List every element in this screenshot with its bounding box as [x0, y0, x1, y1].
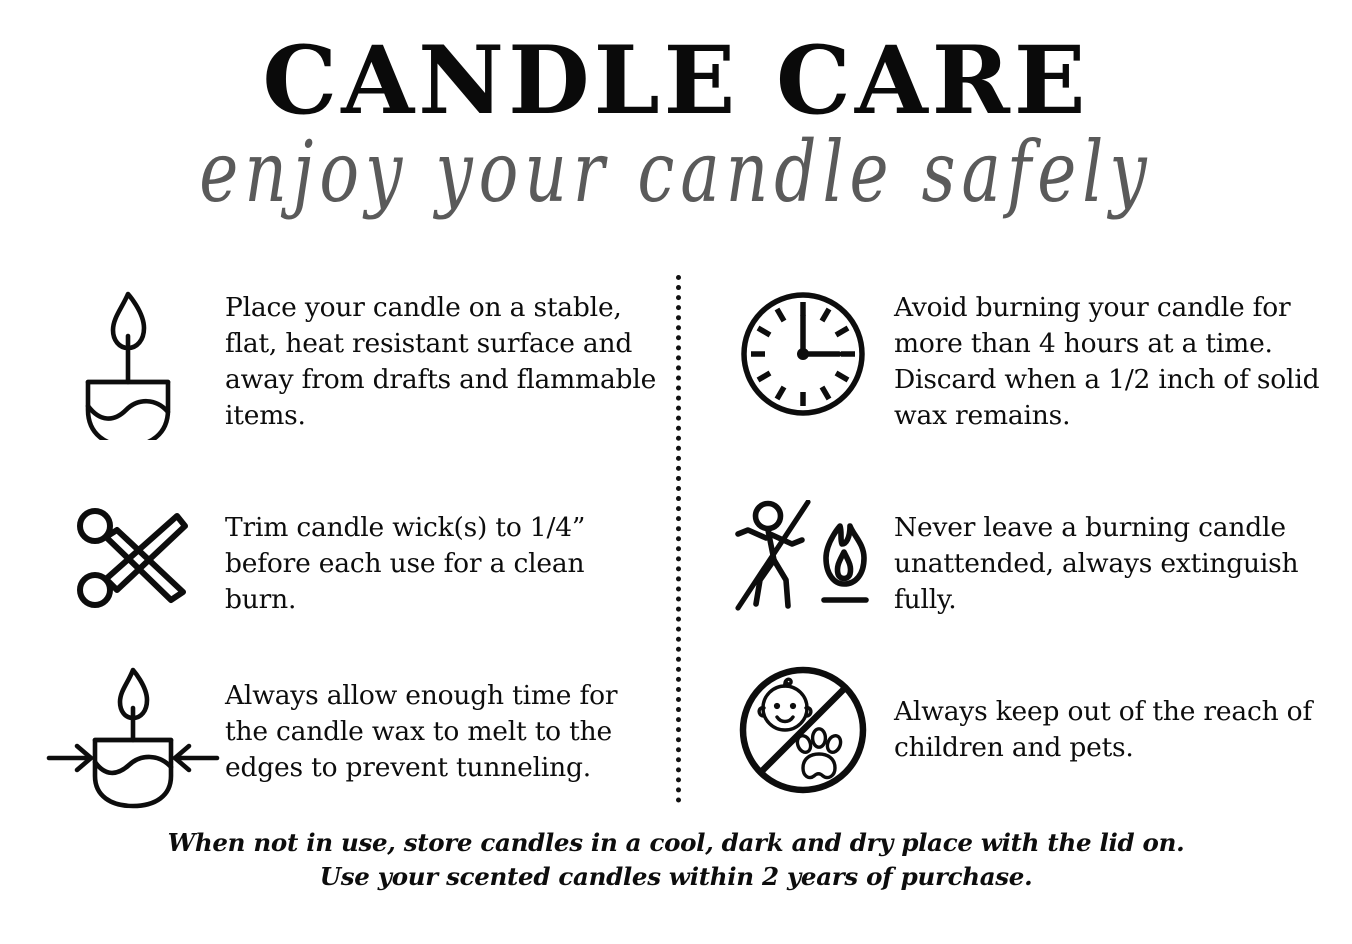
candle-tunneling-arrows-icon — [40, 666, 225, 812]
tip-text: Always keep out of the reach of children… — [894, 664, 1332, 766]
page-title: CANDLE CARE — [0, 0, 1352, 128]
clock-icon — [712, 290, 894, 418]
tip-item: Always allow enough time for the candle … — [40, 664, 660, 812]
vertical-dotted-divider — [676, 275, 681, 803]
footer-line-1: When not in use, store candles in a cool… — [0, 826, 1352, 860]
tips-area: Place your candle on a stable, flat, hea… — [0, 272, 1352, 807]
no-children-pets-icon — [712, 664, 894, 796]
tip-item: Never leave a burning candle unattended,… — [712, 498, 1332, 618]
header: CANDLE CARE enjoy your candle safely — [0, 0, 1352, 196]
footer-line-2: Use your scented candles within 2 years … — [0, 860, 1352, 894]
page-subtitle: enjoy your candle safely — [0, 128, 1352, 215]
person-leaving-flame-icon — [712, 500, 894, 612]
tip-text: Always allow enough time for the candle … — [225, 664, 660, 786]
tip-item: Always keep out of the reach of children… — [712, 664, 1332, 796]
tip-item: Place your candle on a stable, flat, hea… — [40, 288, 660, 440]
footer: When not in use, store candles in a cool… — [0, 826, 1352, 894]
tip-text: Trim candle wick(s) to 1/4” before each … — [225, 498, 660, 618]
candle-on-surface-icon — [40, 288, 225, 440]
tip-item: Trim candle wick(s) to 1/4” before each … — [40, 498, 660, 618]
scissors-icon — [40, 504, 225, 612]
tip-text: Place your candle on a stable, flat, hea… — [225, 288, 660, 434]
tip-text: Never leave a burning candle unattended,… — [894, 498, 1332, 618]
candle-care-infographic: CANDLE CARE enjoy your candle safely — [0, 0, 1352, 944]
tip-text: Avoid burning your candle for more than … — [894, 288, 1332, 434]
tip-item: Avoid burning your candle for more than … — [712, 288, 1332, 434]
